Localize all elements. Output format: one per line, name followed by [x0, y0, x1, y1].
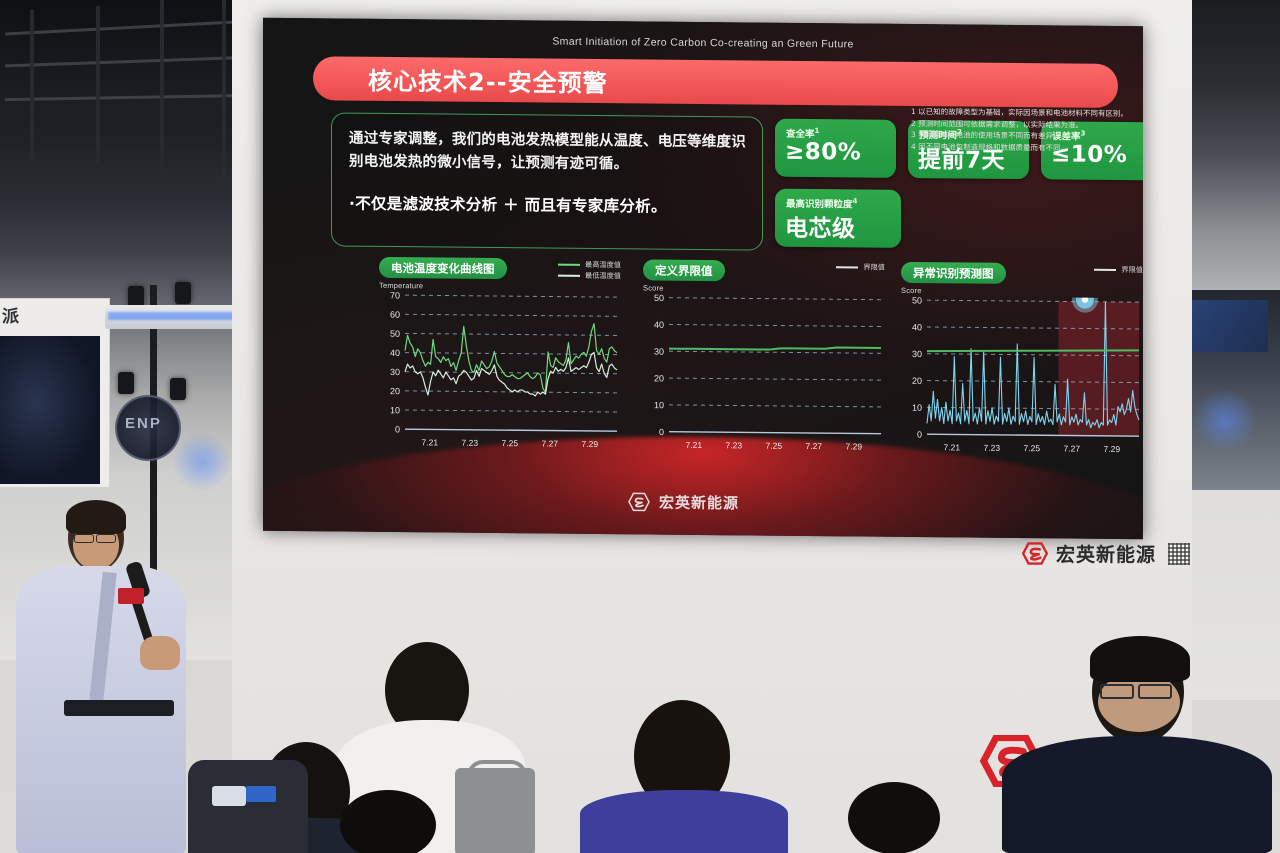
booth-right-glow: [1190, 390, 1260, 450]
svg-text:7.23: 7.23: [726, 440, 743, 450]
enp-logo-text: ENP: [125, 415, 162, 432]
svg-text:7.29: 7.29: [582, 439, 599, 449]
legend-label: 最高温度值: [585, 259, 621, 269]
svg-text:30: 30: [390, 367, 400, 377]
svg-text:10: 10: [912, 403, 922, 413]
svg-text:7.25: 7.25: [1024, 443, 1041, 453]
presenter-belt: [64, 700, 174, 716]
slide-canvas: Smart Initiation of Zero Carbon Co-creat…: [263, 18, 1143, 539]
glasses-icon: [1100, 684, 1134, 699]
kpi-card-granularity: 最高识别颗粒度4 电芯级: [775, 189, 901, 248]
audience-head: [340, 790, 436, 853]
kpi-card-recall: 查全率1 ≥80%: [775, 119, 896, 178]
svg-text:20: 20: [390, 386, 400, 396]
audience-hair: [1090, 636, 1190, 682]
legend-label: 界限值: [863, 262, 885, 272]
handbag-handle: [467, 760, 527, 786]
truss-post: [30, 10, 34, 160]
svg-text:7.21: 7.21: [944, 442, 961, 452]
svg-text:0: 0: [659, 427, 664, 437]
audience-body: [188, 760, 308, 853]
stage-light-icon: [118, 372, 134, 394]
chart-header: 异常识别预测图 界限值: [893, 262, 1143, 286]
chart-header: 定义界限值 界限值: [635, 259, 887, 283]
svg-text:50: 50: [654, 293, 664, 303]
chart-y-axis-label: Score: [643, 283, 664, 292]
chart-title: 异常识别预测图: [901, 262, 1006, 284]
truss-post: [96, 6, 100, 166]
chart-plot-area: 0102030405060707.217.237.257.277.29: [379, 291, 621, 453]
svg-text:7.23: 7.23: [984, 443, 1001, 453]
svg-text:10: 10: [654, 400, 664, 410]
glasses-icon: [96, 534, 116, 543]
description-box: 通过专家调整，我们的电池发热模型能从温度、电压等维度识别电池发热的微小信号，让预…: [331, 112, 763, 250]
svg-text:7.23: 7.23: [462, 438, 479, 448]
page-title: 核心技术2--安全预警: [368, 61, 608, 98]
chart-legend: 界限值: [1094, 264, 1143, 275]
booth-blue-glow: [172, 432, 232, 492]
audience-body: [580, 790, 788, 853]
svg-text:7.25: 7.25: [502, 438, 519, 448]
svg-text:7.29: 7.29: [846, 441, 863, 451]
audience-body: [1002, 736, 1272, 853]
legend-swatch: [836, 266, 858, 268]
slide-footer-logo-text: 宏英新能源: [659, 492, 739, 514]
svg-text:50: 50: [912, 296, 922, 306]
booth-sign-text-left: 派: [2, 302, 19, 327]
svg-text:70: 70: [390, 291, 400, 301]
booth-display-left: [0, 336, 100, 484]
presenter-hand: [140, 636, 180, 670]
slide-eyebrow: Smart Initiation of Zero Carbon Co-creat…: [263, 33, 1143, 53]
chart-threshold-definition: 定义界限值 界限值 Score 010203040507.217.237.257…: [635, 259, 887, 461]
chart-header: 电池温度变化曲线图 最高温度值 最低温度值: [371, 257, 623, 281]
truss-post: [160, 0, 164, 170]
presenter-hair: [66, 500, 126, 534]
footnote-item: 4 因不同电池包制造规格和数据质量而有不同。: [911, 141, 1139, 155]
svg-text:10: 10: [390, 405, 400, 415]
svg-text:7.25: 7.25: [766, 441, 783, 451]
presenter-badge: [118, 588, 144, 604]
svg-text:30: 30: [912, 349, 922, 359]
hongying-logo-icon: [628, 492, 650, 511]
stage-light-icon: [170, 378, 186, 400]
svg-text:7.29: 7.29: [1104, 444, 1121, 454]
chart-plot-area: 010203040507.217.237.257.277.29: [901, 296, 1143, 458]
legend-label: 最低温度值: [585, 270, 621, 280]
truss-post: [222, 0, 226, 180]
svg-text:0: 0: [395, 424, 400, 434]
svg-text:20: 20: [654, 373, 664, 383]
svg-text:7.27: 7.27: [1064, 443, 1081, 453]
chart-anomaly-prediction: 异常识别预测图 界限值 Score 010203040507.217.237.2…: [893, 262, 1143, 464]
svg-text:20: 20: [912, 376, 922, 386]
description-bullet: ·不仅是滤波技术分析 ＋ 而且有专家库分析。: [349, 192, 752, 218]
booth-led-strip: [108, 312, 236, 320]
svg-text:30: 30: [654, 347, 664, 357]
svg-text:7.21: 7.21: [686, 440, 703, 450]
description-paragraph: 通过专家调整，我们的电池发热模型能从温度、电压等维度识别电池发热的微小信号，让预…: [349, 128, 750, 178]
wall-brand-logo: 宏英新能源: [1022, 540, 1190, 567]
svg-text:0: 0: [917, 429, 922, 439]
audience-head: [848, 782, 940, 853]
screenshot-root: 派 ENP Smart Initiation of Zero Carbon Co…: [0, 0, 1280, 853]
stage-light-icon: [175, 282, 191, 304]
svg-text:7.21: 7.21: [422, 437, 439, 447]
projected-slide: Smart Initiation of Zero Carbon Co-creat…: [263, 18, 1143, 539]
svg-text:50: 50: [390, 329, 400, 339]
chart-y-axis-label: Temperature: [379, 281, 423, 290]
chart-legend: 界限值: [836, 261, 885, 272]
footnotes: 1 以已知的故障类型为基础，实际因场景和电池材料不同有区别。 2 预测时间范围可…: [911, 106, 1139, 155]
svg-text:40: 40: [912, 322, 922, 332]
chart-legend: 最高温度值 最低温度值: [558, 259, 621, 282]
svg-text:40: 40: [654, 320, 664, 330]
legend-label: 界限值: [1121, 265, 1143, 275]
legend-swatch: [558, 263, 580, 265]
chart-title: 电池温度变化曲线图: [379, 257, 507, 279]
glasses-icon: [1138, 684, 1172, 699]
audience-lanyard: [246, 786, 276, 802]
legend-swatch: [1094, 268, 1116, 270]
legend-swatch: [558, 274, 580, 276]
svg-text:60: 60: [390, 310, 400, 320]
wall-brand-logo-text: 宏英新能源: [1056, 540, 1156, 567]
hongying-logo-icon: [1022, 542, 1048, 565]
chart-plot-area: 010203040507.217.237.257.277.29: [643, 293, 885, 455]
slide-footer-logo: 宏英新能源: [628, 491, 739, 513]
chart-battery-temperature: 电池温度变化曲线图 最高温度值 最低温度值 Temperature 010203…: [371, 257, 623, 459]
kpi-value: ≥80%: [785, 139, 861, 166]
glasses-icon: [74, 534, 94, 543]
chart-title: 定义界限值: [643, 259, 725, 281]
svg-text:7.27: 7.27: [542, 438, 559, 448]
audience-badge: [212, 786, 246, 806]
chart-y-axis-label: Score: [901, 286, 922, 295]
slide-title-bar: 核心技术2--安全预警: [313, 56, 1118, 108]
svg-text:7.27: 7.27: [806, 441, 823, 451]
qr-code-icon: [1168, 543, 1190, 565]
svg-text:40: 40: [390, 348, 400, 358]
kpi-value: 电芯级: [785, 209, 856, 244]
